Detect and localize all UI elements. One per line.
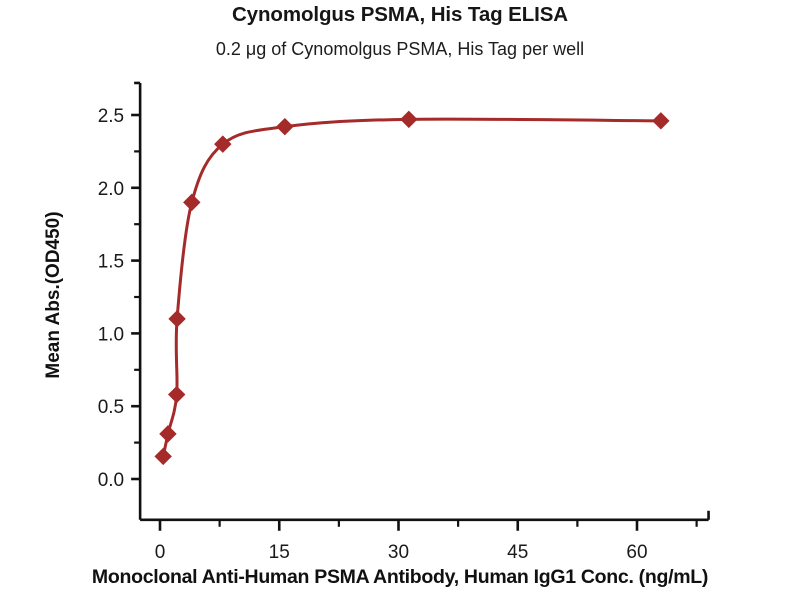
chart-figure: Cynomolgus PSMA, His Tag ELISA 0.2 μg of… bbox=[0, 0, 800, 600]
y-tick-label: 2.5 bbox=[98, 106, 124, 127]
y-tick-label: 1.0 bbox=[98, 324, 124, 345]
plot-area: 0.00.51.01.52.02.5015304560 bbox=[0, 0, 800, 600]
data-point-marker bbox=[277, 119, 293, 135]
data-point-marker bbox=[160, 426, 176, 442]
data-point-marker bbox=[169, 387, 185, 403]
series-line bbox=[163, 119, 661, 456]
y-tick-label: 0.5 bbox=[98, 397, 124, 418]
x-tick-label: 30 bbox=[388, 542, 409, 563]
data-point-marker bbox=[653, 113, 669, 129]
x-tick-label: 45 bbox=[507, 542, 528, 563]
x-tick-label: 60 bbox=[626, 542, 647, 563]
y-tick-label: 0.0 bbox=[98, 470, 124, 491]
data-point-marker bbox=[401, 111, 417, 127]
y-tick-label: 1.5 bbox=[98, 252, 124, 273]
data-point-marker bbox=[184, 194, 200, 210]
x-tick-label: 15 bbox=[269, 542, 290, 563]
y-tick-label: 2.0 bbox=[98, 179, 124, 200]
data-point-marker bbox=[169, 311, 185, 327]
data-point-marker bbox=[155, 448, 171, 464]
x-tick-label: 0 bbox=[155, 542, 166, 563]
